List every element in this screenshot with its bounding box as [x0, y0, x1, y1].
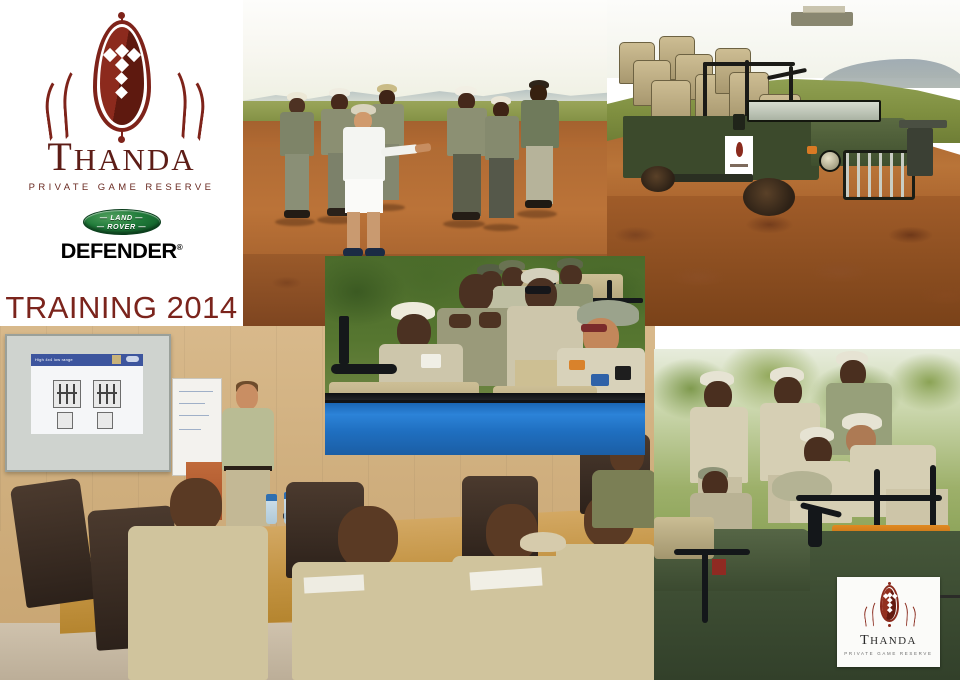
brand-rest: HANDA: [74, 142, 196, 177]
trademark-symbol: ®: [177, 243, 183, 252]
distant-vehicle: [803, 6, 845, 13]
wing-mirror: [733, 114, 745, 130]
roll-cage-rail: [796, 495, 942, 501]
mud-foreground: [607, 196, 960, 326]
seat-frame: [702, 549, 708, 623]
sky: [243, 0, 607, 104]
door-logo-sign: [725, 136, 753, 176]
gear-pattern-diagram: [93, 380, 121, 408]
slide-logo-icon: [112, 355, 121, 364]
thanda-emblem-icon: [858, 582, 920, 632]
door-handle: [712, 559, 726, 575]
roll-cage-rail: [930, 465, 936, 529]
shirt-badge: [591, 374, 609, 386]
head: [236, 384, 258, 410]
door-sign-brand-rest: HANDA: [870, 635, 917, 647]
slide-pill-icon: [126, 356, 139, 362]
shirt-badge: [615, 366, 631, 380]
defender-wordmark: DEFENDER®: [61, 240, 183, 264]
door-sign-tagline: PRIVATE GAME RESERVE: [844, 651, 932, 656]
brand-panel: THANDA PRIVATE GAME RESERVE — LAND — — R…: [0, 0, 243, 326]
gear-pattern-diagram: [53, 380, 81, 408]
indicator-lamp: [807, 146, 817, 154]
training-poster: Field briefing: rangers in khaki uniform…: [0, 0, 960, 680]
sunglasses-icon: [525, 286, 551, 294]
steering-column: [339, 316, 349, 364]
sunglasses-icon: [581, 324, 607, 332]
photo-game-drive: Rangers seated in an open blue-bonneted …: [325, 256, 645, 455]
sign-bracket: [940, 595, 960, 598]
trousers: [226, 470, 270, 526]
hand: [479, 312, 501, 328]
bull-bar: [843, 150, 915, 200]
land-rover-badge-icon: — LAND — — ROVER —: [83, 209, 161, 235]
wing-mirror: [808, 507, 822, 547]
blue-bonnet: [325, 400, 645, 455]
front-wheel: [743, 178, 795, 216]
water-bottle: [266, 494, 277, 524]
winch-mount: [907, 128, 933, 176]
land-rover-line-2: — ROVER —: [97, 222, 146, 231]
slide-header-bar: High 4x4 low range: [31, 354, 143, 366]
document-papers: [304, 574, 365, 593]
roll-cage-rail: [874, 469, 880, 529]
emblem-bottom-dot: [118, 136, 125, 143]
brand-tagline: PRIVATE GAME RESERVE: [29, 182, 215, 193]
shirt-badge: [421, 354, 441, 368]
steering-wheel: [331, 364, 397, 374]
head-lamp: [819, 150, 841, 172]
shirt-badge: [569, 360, 585, 370]
range-lever-icon: [57, 412, 73, 429]
slide-surface: High 4x4 low range: [31, 354, 143, 434]
side-step: [667, 174, 753, 182]
door-sign-brand: THANDA: [860, 633, 917, 649]
thanda-door-sign: THANDA PRIVATE GAME RESERVE: [837, 577, 940, 667]
photo-land-rover-in-mud: LAND ROVER Green Land Rover Defender gam…: [607, 0, 960, 326]
training-headline: TRAINING 2014: [5, 290, 237, 326]
distant-vehicle: [791, 12, 853, 26]
projector-screen: High 4x4 low range: [5, 334, 171, 472]
uniform-shirt: [222, 408, 274, 470]
tow-platform: [899, 120, 947, 128]
windscreen: [747, 100, 881, 122]
rear-wheel: [641, 166, 675, 192]
seat-frame: [674, 549, 750, 555]
ranger-cap-on-table: [520, 532, 566, 552]
range-lever-icon: [97, 412, 113, 429]
hand: [449, 314, 471, 328]
land-rover-line-1: — LAND —: [100, 213, 143, 222]
photo-vehicle-briefing: THANDA PRIVATE GAME RESERVE Rangers gath…: [654, 349, 960, 680]
thanda-shield-emblem-icon: [27, 8, 217, 135]
roll-bar: [703, 62, 795, 66]
